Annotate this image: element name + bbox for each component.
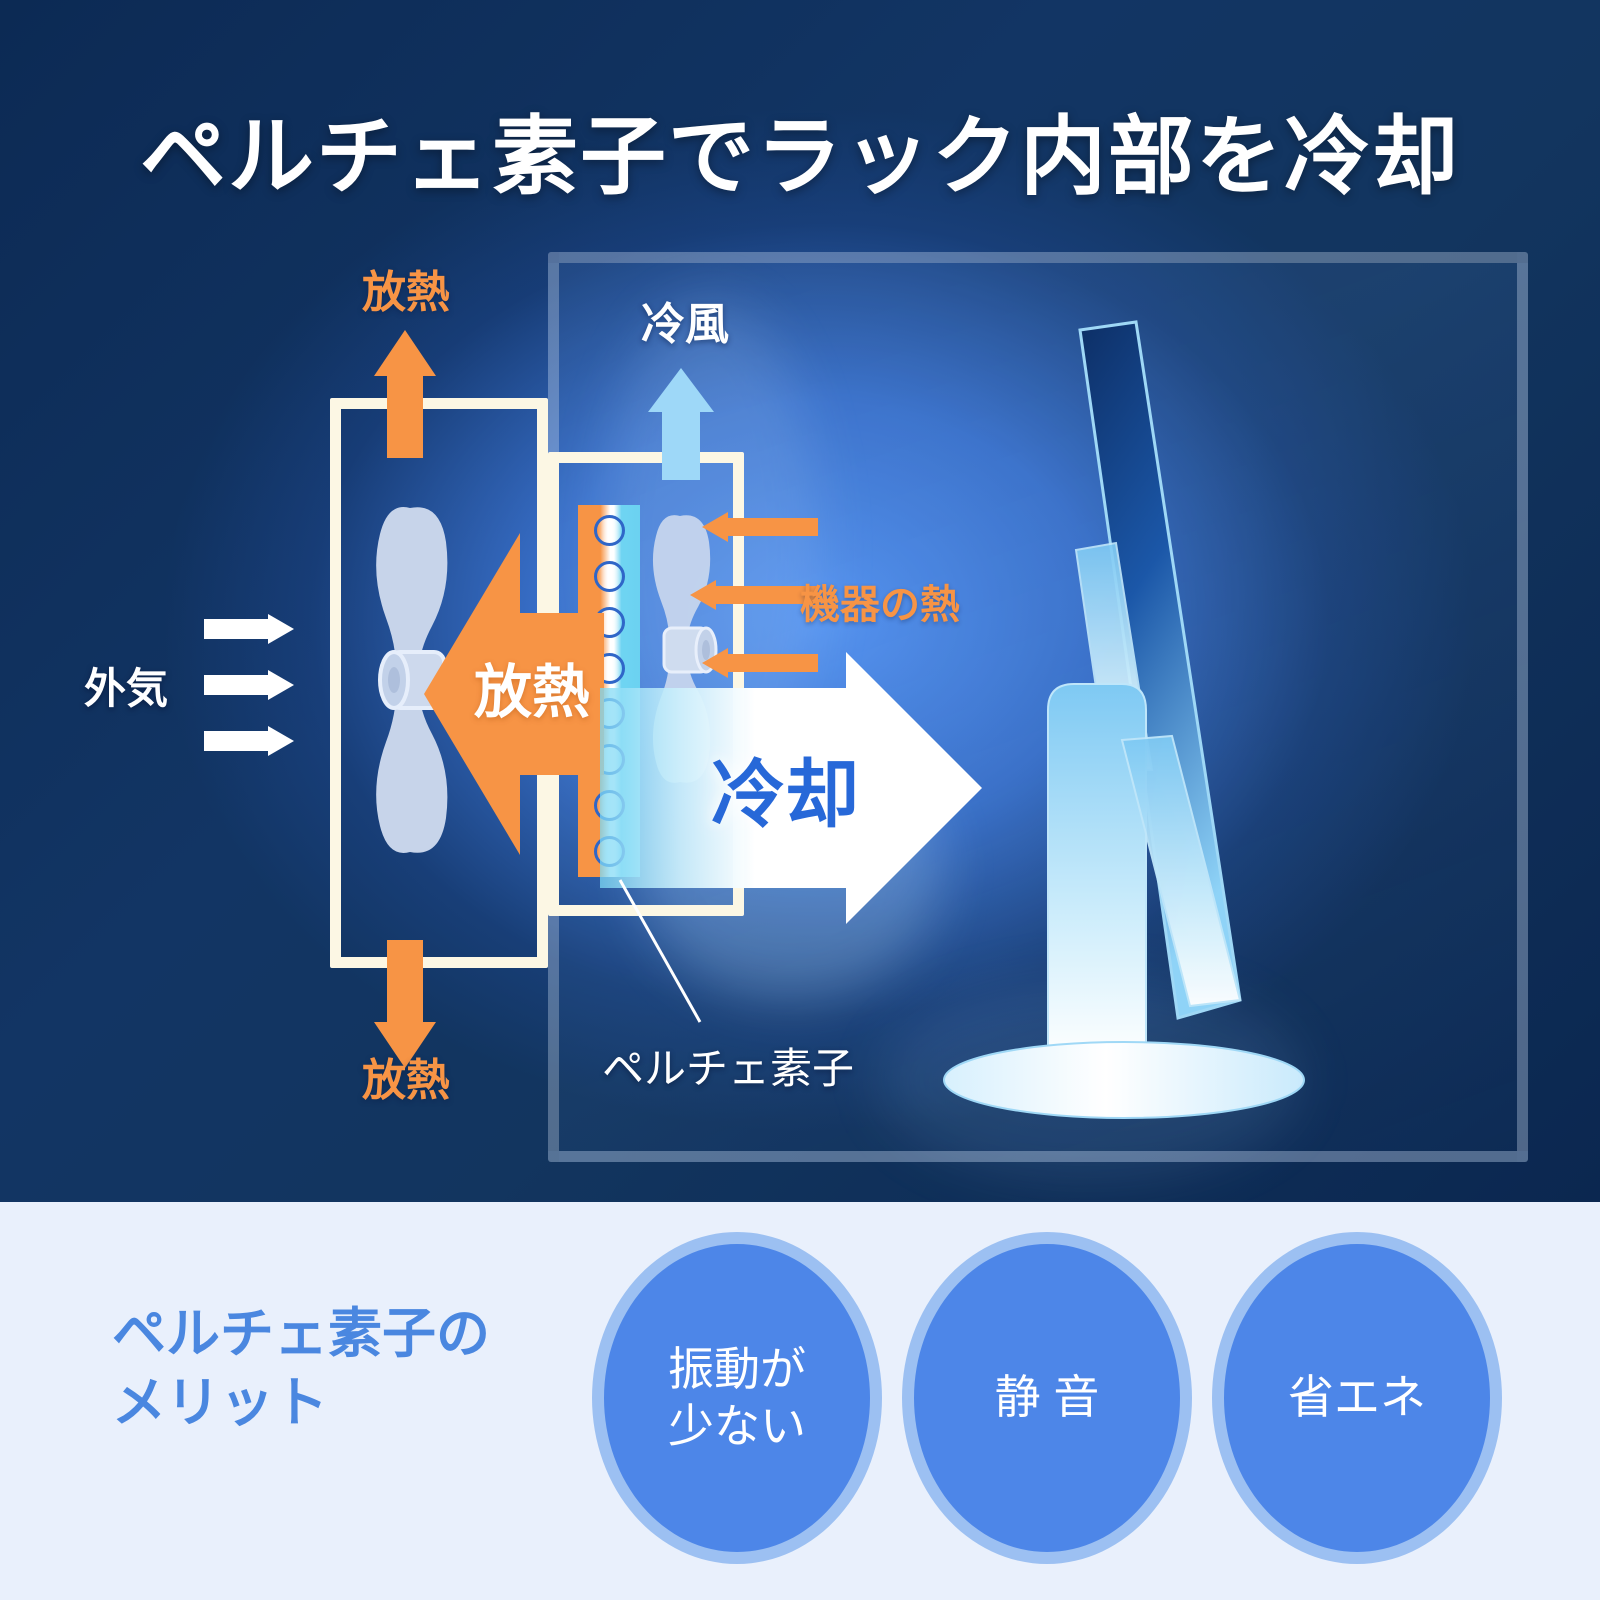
- equipment-heat-arrow: [702, 512, 818, 542]
- equipment-heat-label: 機器の熱: [800, 572, 1010, 630]
- outside-air-arrow: [204, 670, 294, 700]
- cold-air-label: 冷風: [610, 288, 760, 352]
- heat-label-top: 放熱: [306, 256, 506, 320]
- merit-bubble-energy[interactable]: 省エネ: [1212, 1232, 1502, 1564]
- merit-bubble-label: 省エネ: [1288, 1369, 1426, 1427]
- monitor-icon: [940, 300, 1360, 1140]
- merit-bubble-label: 振動が 少ない: [668, 1341, 806, 1456]
- heat-dissipation-label: 放熱: [452, 645, 612, 729]
- merit-bubble-quiet[interactable]: 静 音: [902, 1232, 1192, 1564]
- outside-air-arrow: [204, 726, 294, 756]
- cooling-label: 冷却: [660, 735, 910, 842]
- merit-bubble-label: 静 音: [995, 1369, 1100, 1427]
- equipment-heat-arrow: [702, 648, 818, 678]
- outside-air-arrow: [204, 614, 294, 644]
- merits-heading: ペルチェ素子の メリット: [112, 1300, 632, 1438]
- page-title: ペルチェ素子でラック内部を冷却: [0, 86, 1600, 211]
- infographic-root: ペルチェ素子でラック内部を冷却: [0, 0, 1600, 1600]
- diagram-panel: ペルチェ素子でラック内部を冷却: [0, 0, 1600, 1202]
- cold-air-arrow: [648, 368, 714, 480]
- heat-exhaust-arrow-up: [374, 330, 436, 458]
- outside-air-label: 外気: [84, 655, 214, 716]
- peltier-callout-label: ペルチェ素子: [602, 1035, 942, 1096]
- merit-bubble-vibration[interactable]: 振動が 少ない: [592, 1232, 882, 1564]
- merits-heading-text: ペルチェ素子の メリット: [112, 1304, 490, 1433]
- heat-label-bottom: 放熱: [306, 1044, 506, 1108]
- equipment-heat-arrow: [690, 580, 818, 610]
